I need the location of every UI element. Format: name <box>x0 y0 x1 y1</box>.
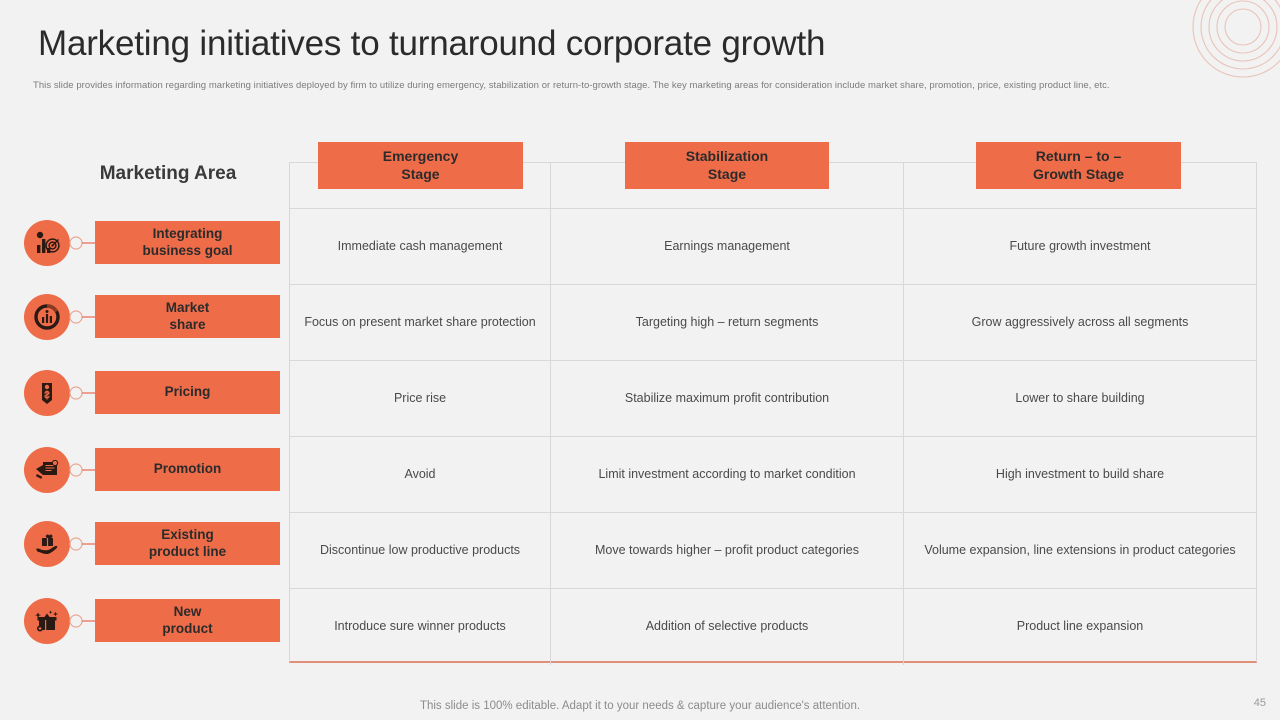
slide-canvas: Marketing initiatives to turnaround corp… <box>0 0 1280 720</box>
cell-emergency: Discontinue low productive products <box>290 513 551 588</box>
page-subtitle: This slide provides information regardin… <box>33 80 1248 91</box>
table-row[interactable]: Avoid Limit investment according to mark… <box>290 437 1256 513</box>
donut-chart-icon <box>24 294 70 340</box>
area-label-line2: product <box>162 621 212 636</box>
area-label-line1: Integrating <box>153 226 223 241</box>
cell-stabilization: Earnings management <box>551 209 904 284</box>
cell-stabilization: Limit investment according to market con… <box>551 437 904 512</box>
cell-stabilization: Targeting high – return segments <box>551 285 904 360</box>
marketing-area-row-2[interactable]: Market share <box>24 294 280 344</box>
cell-emergency: Price rise <box>290 361 551 436</box>
area-label-line1: Promotion <box>154 461 222 478</box>
marketing-area-label-6: New product <box>95 599 280 642</box>
marketing-area-row-1[interactable]: Integrating business goal <box>24 220 280 270</box>
table-row[interactable]: Discontinue low productive products Move… <box>290 513 1256 589</box>
area-label-line2: share <box>169 317 205 332</box>
table-row[interactable]: Immediate cash management Earnings manag… <box>290 209 1256 285</box>
cell-growth: Lower to share building <box>904 361 1256 436</box>
bar-chart-target-icon <box>24 220 70 266</box>
cell-stabilization: Move towards higher – profit product cat… <box>551 513 904 588</box>
cell-growth: Future growth investment <box>904 209 1256 284</box>
marketing-area-label-2: Market share <box>95 295 280 338</box>
concentric-rings-decoration <box>1188 0 1280 82</box>
cell-stabilization: Addition of selective products <box>551 589 904 665</box>
marketing-area-label-1: Integrating business goal <box>95 221 280 264</box>
footer-note: This slide is 100% editable. Adapt it to… <box>0 700 1280 712</box>
page-number: 45 <box>1254 697 1266 709</box>
table-row[interactable]: Introduce sure winner products Addition … <box>290 589 1256 665</box>
marketing-area-label-3: Pricing <box>95 371 280 414</box>
marketing-area-row-5[interactable]: Existing product line <box>24 521 280 571</box>
area-label-line1: Pricing <box>165 384 211 401</box>
area-label-line2: business goal <box>142 243 232 258</box>
stage-chip-line2: Growth Stage <box>1033 166 1124 182</box>
stage-chip-emergency[interactable]: Emergency Stage <box>318 142 523 189</box>
stage-chip-growth[interactable]: Return – to – Growth Stage <box>976 142 1181 189</box>
gift-box-sparkle-icon <box>24 598 70 644</box>
area-label-line2: product line <box>149 544 226 559</box>
cell-emergency: Immediate cash management <box>290 209 551 284</box>
marketing-area-label-5: Existing product line <box>95 522 280 565</box>
stage-chip-line2: Stage <box>708 166 746 182</box>
marketing-area-row-6[interactable]: New product <box>24 598 280 648</box>
hand-holding-box-icon <box>24 521 70 567</box>
megaphone-document-icon <box>24 447 70 493</box>
cell-emergency: Avoid <box>290 437 551 512</box>
table-row[interactable]: Price rise Stabilize maximum profit cont… <box>290 361 1256 437</box>
stage-chip-line2: Stage <box>401 166 439 182</box>
stage-chip-line1: Stabilization <box>686 148 768 164</box>
price-tag-dollar-icon <box>24 370 70 416</box>
cell-emergency: Introduce sure winner products <box>290 589 551 665</box>
area-label-line1: New <box>174 604 202 619</box>
stage-chip-line1: Emergency <box>383 148 458 164</box>
cell-growth: Grow aggressively across all segments <box>904 285 1256 360</box>
cell-stabilization: Stabilize maximum profit contribution <box>551 361 904 436</box>
stage-chip-stabilization[interactable]: Stabilization Stage <box>625 142 829 189</box>
area-label-line1: Existing <box>161 527 214 542</box>
cell-emergency: Focus on present market share protection <box>290 285 551 360</box>
table-row[interactable]: Focus on present market share protection… <box>290 285 1256 361</box>
stage-chip-line1: Return – to – <box>1036 148 1122 164</box>
marketing-area-label-4: Promotion <box>95 448 280 491</box>
cell-growth: High investment to build share <box>904 437 1256 512</box>
cell-growth: Volume expansion, line extensions in pro… <box>904 513 1256 588</box>
page-title: Marketing initiatives to turnaround corp… <box>38 24 825 64</box>
area-label-line1: Market <box>166 300 210 315</box>
stages-table: Immediate cash management Earnings manag… <box>289 162 1257 663</box>
marketing-area-row-3[interactable]: Pricing <box>24 370 280 420</box>
marketing-area-row-4[interactable]: Promotion <box>24 447 280 497</box>
marketing-area-heading: Marketing Area <box>58 163 278 185</box>
cell-growth: Product line expansion <box>904 589 1256 665</box>
